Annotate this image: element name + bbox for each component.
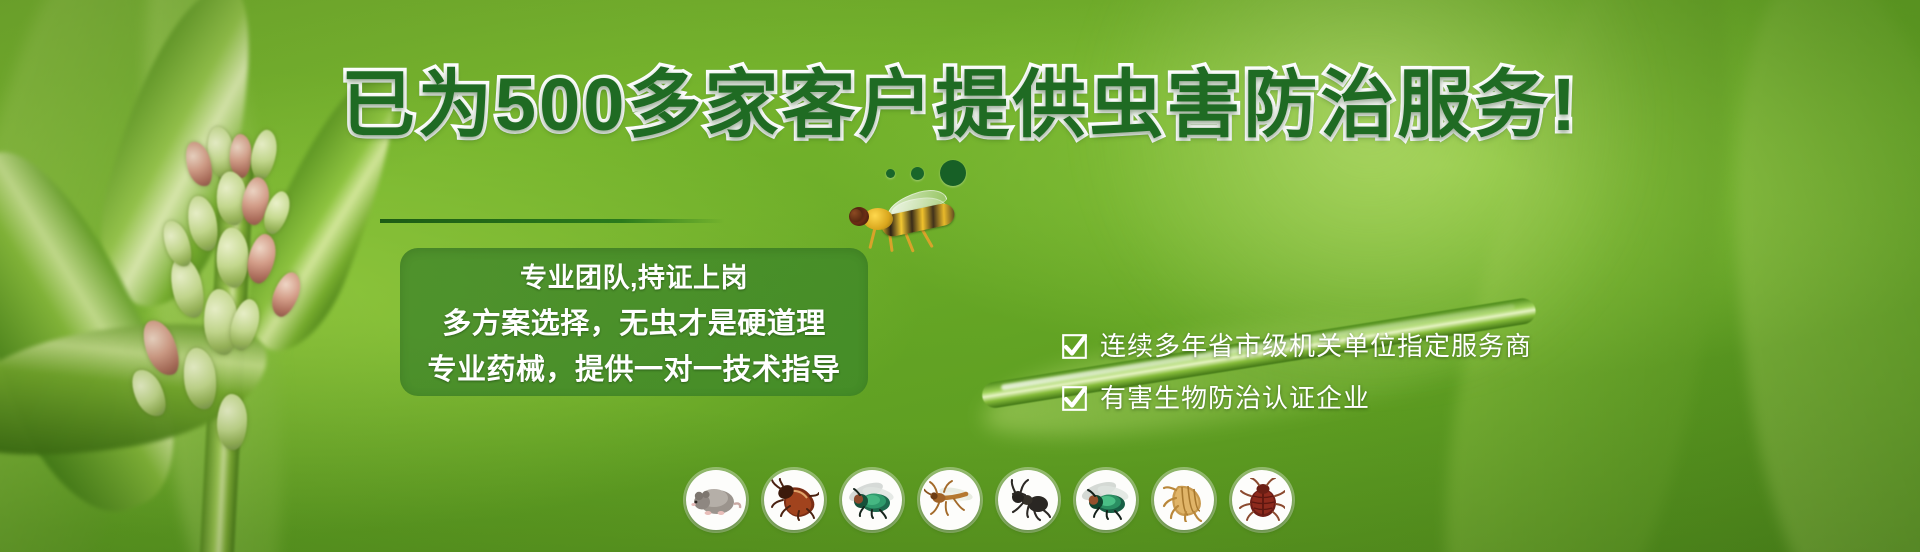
banner-headline: 已为500多家客户提供虫害防治服务!	[0, 68, 1920, 142]
checklist-item: 有害生物防治认证企业	[1062, 385, 1532, 411]
selling-point-line-1: 专业团队,持证上岗	[520, 256, 748, 295]
selling-points-text: 专业团队,持证上岗 多方案选择，无虫才是硬道理 专业药械，提供一对一技术指导	[400, 252, 868, 392]
checklist-item: 连续多年省市级机关单位指定服务商	[1062, 333, 1532, 359]
selling-point-line-3: 专业药械，提供一对一技术指导	[427, 346, 840, 388]
divider	[380, 219, 725, 223]
greenbottle-fly-icon[interactable]	[1076, 470, 1136, 530]
checkbox-check-icon	[1062, 334, 1087, 359]
rodent-icon[interactable]	[686, 470, 746, 530]
decorative-dot-small	[886, 169, 895, 178]
flea-icon[interactable]	[1154, 470, 1214, 530]
cockroach-icon[interactable]	[764, 470, 824, 530]
pest-icon-row	[686, 470, 1292, 530]
credentials-checklist: 连续多年省市级机关单位指定服务商 有害生物防治认证企业	[1062, 333, 1532, 411]
banner-headline-text: 已为500多家客户提供虫害防治服务!	[341, 63, 1579, 146]
checkbox-check-icon	[1062, 386, 1087, 411]
checklist-item-label: 连续多年省市级机关单位指定服务商	[1100, 333, 1532, 359]
decorative-dot-large	[940, 160, 966, 186]
bedbug-icon[interactable]	[1232, 470, 1292, 530]
mosquito-icon[interactable]	[920, 470, 980, 530]
selling-point-line-2: 多方案选择，无虫才是硬道理	[442, 300, 826, 342]
pest-control-hero-banner: 已为500多家客户提供虫害防治服务! 专业团队,持证上岗 多方案选择，无虫才是硬…	[0, 0, 1920, 552]
ant-icon[interactable]	[998, 470, 1058, 530]
decorative-dot-medium	[911, 167, 924, 180]
decorative-dots	[886, 160, 966, 186]
checklist-item-label: 有害生物防治认证企业	[1100, 385, 1370, 411]
blowfly-icon[interactable]	[842, 470, 902, 530]
